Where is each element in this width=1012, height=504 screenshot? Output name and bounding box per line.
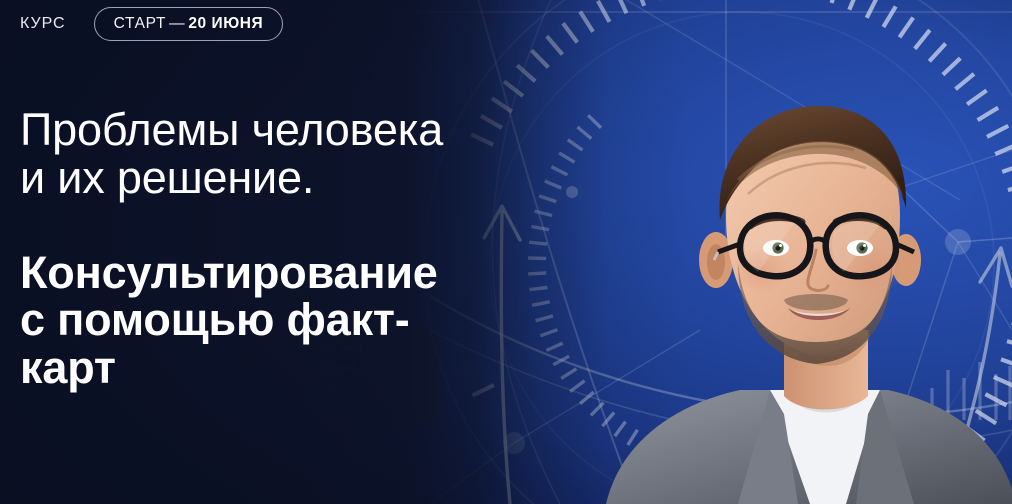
start-badge-date: 20 ИЮНЯ (188, 15, 263, 33)
eyes (763, 240, 873, 256)
up-arrow-graphic-right (944, 248, 1012, 504)
start-badge-prefix: СТАРТ (114, 15, 167, 33)
start-badge-dash: — (166, 15, 188, 33)
instructor-portrait (588, 84, 1012, 504)
headline-light: Проблемы человека и их решение. (20, 106, 540, 201)
page-title: Проблемы человека и их решение. Консульт… (20, 59, 540, 439)
headline-bold: Консультирование с помощью факт- карт (20, 249, 540, 391)
start-date-badge[interactable]: СТАРТ — 20 ИЮНЯ (94, 7, 284, 41)
hero-text-column: КУРС СТАРТ — 20 ИЮНЯ Проблемы человека и… (0, 0, 540, 504)
suit-shoulders (606, 390, 1012, 504)
bar-chart-graphic (932, 362, 1010, 420)
eyeglasses (718, 215, 914, 276)
eyebrow-row: КУРС СТАРТ — 20 ИЮНЯ (20, 5, 540, 43)
course-label: КУРС (20, 15, 66, 33)
hero-banner: КУРС СТАРТ — 20 ИЮНЯ Проблемы человека и… (0, 0, 1012, 504)
